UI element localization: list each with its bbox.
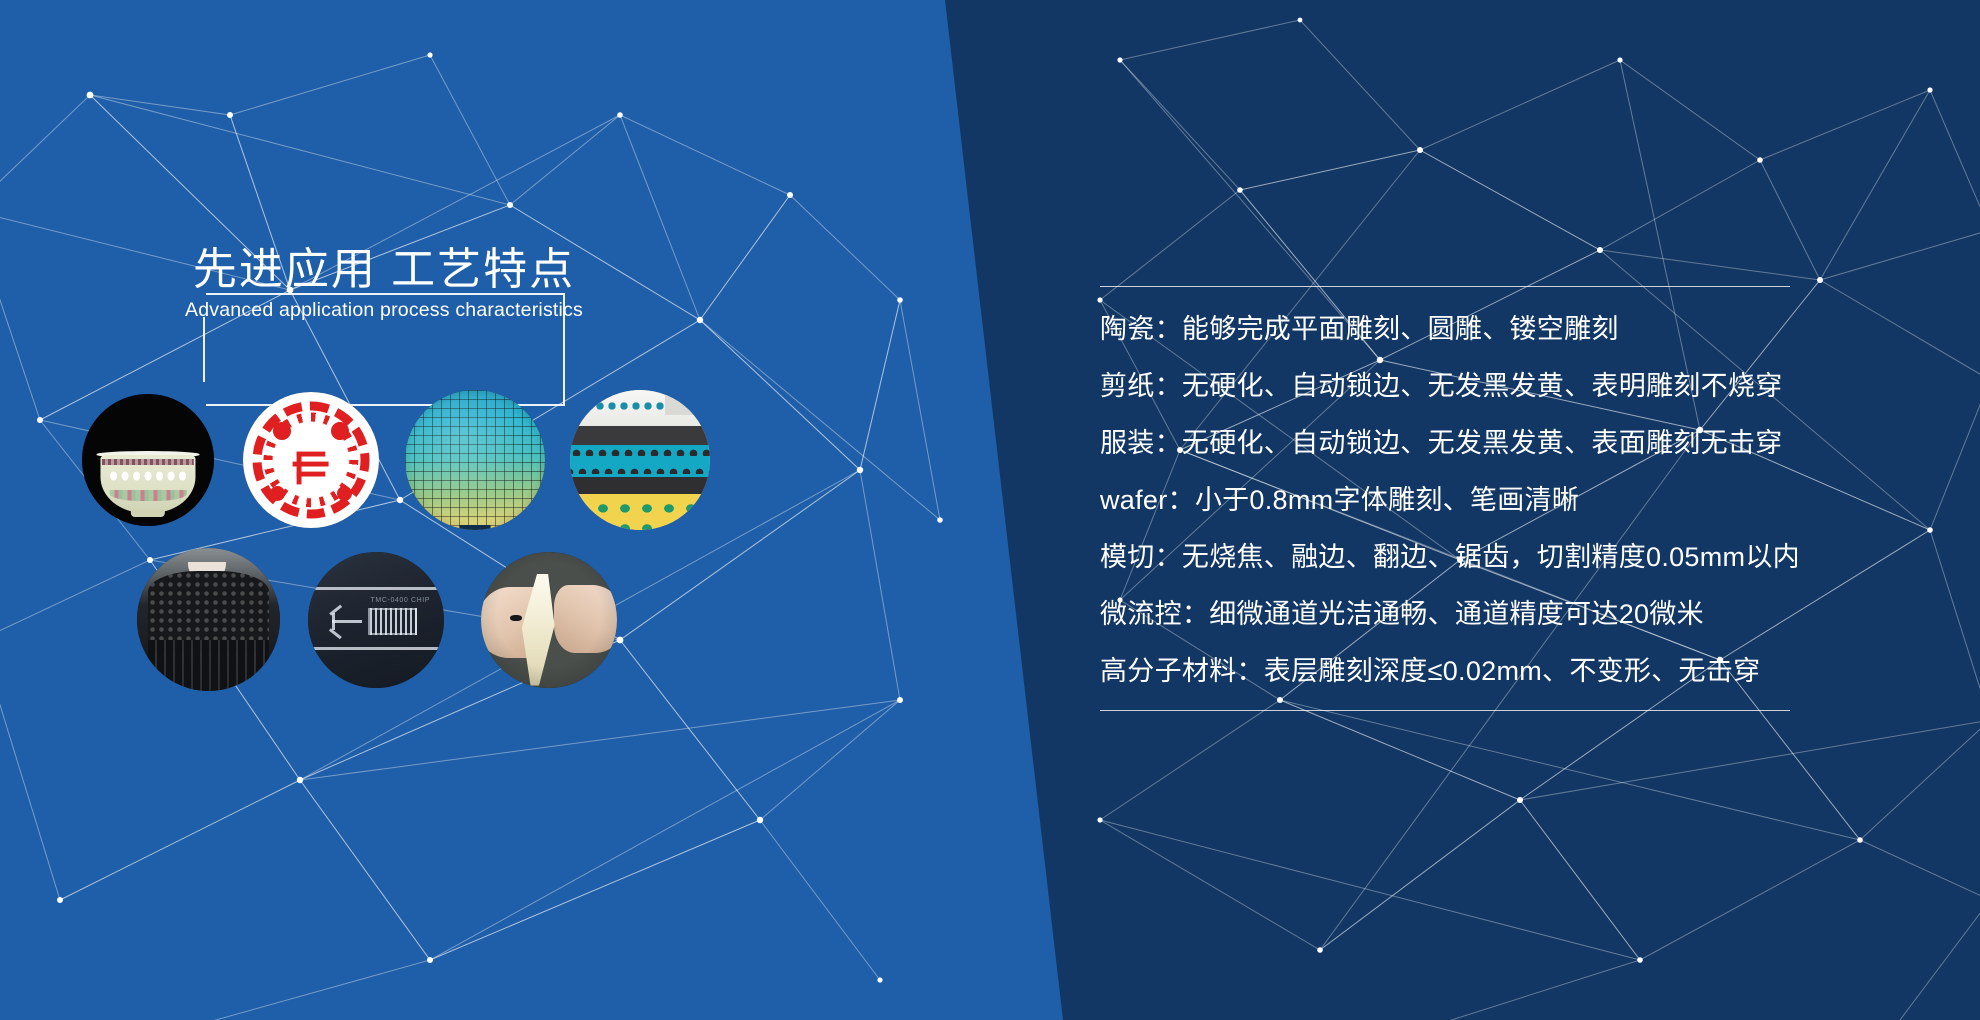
- garment-image: [137, 548, 280, 691]
- bowl-band-top: [102, 459, 194, 465]
- papercut-motif-3: [270, 486, 285, 501]
- gallery-circle-silicon-wafer[interactable]: [405, 390, 545, 530]
- wafer-image: [405, 390, 545, 530]
- spec-line: 服装：无硬化、自动锁边、无发黑发黄、表面雕刻无击穿: [1100, 415, 1912, 472]
- spec-line: 高分子材料：表层雕刻深度≤0.02mm、不变形、无击穿: [1100, 643, 1912, 700]
- garment-fringe: [148, 640, 268, 691]
- gallery-circle-perforated-garment[interactable]: [137, 548, 280, 691]
- spec-list: 陶瓷：能够完成平面雕刻、圆雕、镂空雕刻 剪纸：无硬化、自动锁边、无发黑发黄、表明…: [1100, 286, 1912, 711]
- gallery-circle-microfluidic-chip[interactable]: TMC-0400 CHIP: [308, 552, 444, 688]
- chip-y-junction: [332, 610, 362, 632]
- gallery-circle-ceramic-bowl[interactable]: [82, 394, 214, 526]
- film-band-dots-mid-2: [570, 466, 710, 474]
- spec-list-items: 陶瓷：能够完成平面雕刻、圆雕、镂空雕刻 剪纸：无硬化、自动锁边、无发黑发黄、表明…: [1100, 287, 1912, 710]
- film-peel-image: [481, 552, 617, 688]
- bowl-engraved-glyphs: [107, 468, 189, 484]
- gallery-circle-die-cut-film[interactable]: [570, 390, 710, 530]
- papercut-image: [243, 392, 379, 528]
- gallery-circle-polymer-film-peel[interactable]: [481, 552, 617, 688]
- papercut-motif-4: [337, 486, 352, 501]
- papercut-motif-2: [331, 422, 349, 440]
- spec-line: 微流控：细微通道光洁通畅、通道精度可达20微米: [1100, 586, 1912, 643]
- spec-list-rule-bottom: [1100, 710, 1790, 711]
- film-band-dark-2: [570, 477, 710, 494]
- papercut-motif-1: [273, 422, 291, 440]
- spec-line: 剪纸：无硬化、自动锁边、无发黑发黄、表明雕刻不烧穿: [1100, 358, 1912, 415]
- bowl-foot: [131, 510, 165, 517]
- chip-microchannel-array: [368, 608, 417, 635]
- spec-line: 陶瓷：能够完成平面雕刻、圆雕、镂空雕刻: [1100, 301, 1912, 358]
- chip-label-text: TMC-0400 CHIP: [371, 597, 431, 604]
- ceramic-bowl-image: [82, 394, 214, 526]
- chip-channel-top: [308, 587, 444, 590]
- slide-canvas: 先进应用 工艺特点 Advanced application process c…: [0, 0, 1980, 1020]
- film-band-green-caps: [570, 496, 710, 530]
- film-band-dots-mid-1: [570, 447, 710, 455]
- page-title-en: Advanced application process characteris…: [183, 301, 585, 321]
- spec-line: wafer：小于0.8mm字体雕刻、笔画清晰: [1100, 472, 1912, 529]
- chip-channel-bottom: [308, 647, 444, 650]
- bowl-band-bottom: [110, 490, 187, 501]
- die-cut-film-image: [570, 390, 710, 530]
- wafer-notch-flat: [460, 525, 491, 530]
- film-band-dark-1: [570, 426, 710, 444]
- page-title-cn: 先进应用 工艺特点: [183, 248, 585, 292]
- papercut-fu-character: [291, 448, 332, 489]
- wafer-shading: [405, 390, 545, 530]
- film-peel-vignette: [481, 552, 617, 688]
- gallery-circle-red-papercut[interactable]: [243, 392, 379, 528]
- spec-line: 模切：无烧焦、融边、翻边、锯齿，切割精度0.05mm以内: [1100, 529, 1912, 586]
- film-corner-patch: [665, 393, 704, 415]
- microfluidic-chip-image: TMC-0400 CHIP: [308, 552, 444, 688]
